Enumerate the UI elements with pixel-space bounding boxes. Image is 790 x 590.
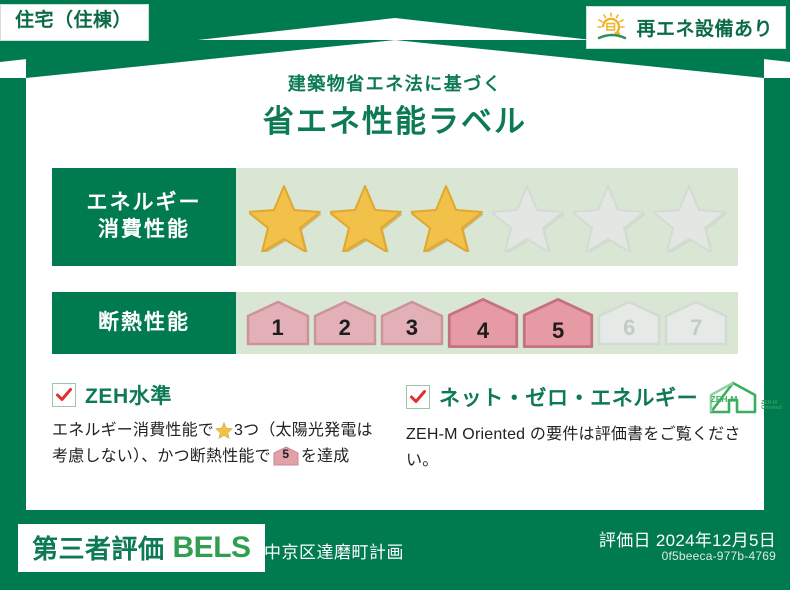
insulation-level-7: 7 (664, 299, 728, 347)
insulation-level-3: 3 (380, 299, 444, 347)
insulation-level-5: 5 (522, 296, 594, 350)
energy-label-line2: 消費性能 (98, 217, 190, 244)
renewable-equipment-tag: 再エネ設備あり (586, 6, 786, 49)
insulation-performance-row: 断熱性能 1234567 (52, 292, 738, 354)
title-block: 建築物省エネ法に基づく 省エネ性能ラベル (26, 74, 764, 142)
solar-sun-icon (595, 12, 629, 42)
energy-label-line1: エネルギー (87, 190, 202, 217)
zehm-logo-caption: ZEH-M Oriented (761, 401, 782, 415)
zehm-caption-line2: Oriented (761, 405, 782, 411)
label-subtitle: 建築物省エネ法に基づく (26, 74, 764, 96)
zeh-standard-checkbox[interactable] (52, 383, 76, 407)
insulation-level-6: 6 (597, 299, 661, 347)
insulation-level-number: 2 (313, 315, 377, 341)
bels-wordmark: BELS (173, 531, 251, 565)
energy-performance-label: エネルギー 消費性能 (52, 168, 236, 266)
star-empty-icon (492, 182, 564, 252)
check-icon (410, 390, 426, 404)
star-filled-icon (249, 182, 321, 252)
net-zero-energy-title: ネット・ゼロ・エネルギー (439, 382, 698, 412)
insulation-level-number: 5 (522, 318, 594, 344)
insulation-level-number: 4 (447, 318, 519, 344)
criteria-section: ZEH水準 エネルギー消費性能で 3つ（太陽光発電は考慮しない）、かつ断熱性能で… (52, 380, 742, 474)
insulation-level-2: 2 (313, 299, 377, 347)
project-name: 中京区達磨町計画 (264, 538, 404, 563)
zeh-standard-description: エネルギー消費性能で 3つ（太陽光発電は考慮しない）、かつ断熱性能で 5 を達成 (52, 418, 388, 470)
evaluation-date: 評価日 2024年12月5日 (599, 526, 776, 551)
star-filled-icon (411, 182, 483, 252)
insulation-level-number: 7 (664, 315, 728, 341)
zeh-m-logo-icon: ZEH-M (707, 380, 759, 414)
bels-third-party-label: 第三者評価 (32, 529, 165, 566)
zeh-desc-part3: を達成 (301, 448, 350, 465)
svg-text:ZEH-M: ZEH-M (711, 394, 738, 404)
insulation-label-text: 断熱性能 (98, 310, 190, 337)
insulation-level-scale: 1234567 (236, 292, 738, 354)
bels-certification-badge: 第三者評価 BELS (18, 524, 265, 572)
footer-bar: 第三者評価 BELS 中京区達磨町計画 評価日 2024年12月5日 0f5be… (0, 516, 790, 590)
insulation-level-number: 1 (246, 315, 310, 341)
star-rating (236, 168, 738, 266)
label-title: 省エネ性能ラベル (26, 102, 764, 142)
criterion-nze-header: ネット・ゼロ・エネルギー ZEH-M ZEH-M Oriented (406, 380, 742, 414)
criterion-zeh-header: ZEH水準 (52, 380, 388, 410)
insulation-level-1: 1 (246, 299, 310, 347)
star-filled-icon (330, 182, 402, 252)
dwelling-type-tag: 住宅（住棟） (0, 4, 149, 41)
zeh-standard-title: ZEH水準 (85, 380, 172, 410)
insulation-level-number: 3 (380, 315, 444, 341)
zehm-logo-wrap: ZEH-M ZEH-M Oriented (707, 380, 782, 414)
label-card: 建築物省エネ法に基づく 省エネ性能ラベル エネルギー 消費性能 断熱性能 123… (26, 40, 764, 510)
inline-star-icon (215, 422, 233, 439)
check-icon (56, 388, 72, 402)
criterion-zeh-standard: ZEH水準 エネルギー消費性能で 3つ（太陽光発電は考慮しない）、かつ断熱性能で… (52, 380, 388, 474)
criterion-net-zero-energy: ネット・ゼロ・エネルギー ZEH-M ZEH-M Oriented ZEH (406, 380, 742, 474)
star-empty-icon (573, 182, 645, 252)
bels-energy-label: 住宅（住棟） 再エネ設備あり (0, 0, 790, 590)
inline-house-badge: 5 (273, 446, 299, 466)
energy-performance-row: エネルギー 消費性能 (52, 168, 738, 266)
zeh-desc-part1: エネルギー消費性能で (52, 422, 214, 439)
evaluation-id: 0f5beeca-977b-4769 (662, 549, 776, 563)
renewable-equipment-label: 再エネ設備あり (636, 14, 773, 41)
net-zero-energy-checkbox[interactable] (406, 385, 430, 409)
insulation-performance-label: 断熱性能 (52, 292, 236, 354)
star-empty-icon (654, 182, 726, 252)
inline-house-number: 5 (273, 445, 299, 464)
insulation-level-number: 6 (597, 315, 661, 341)
insulation-level-4: 4 (447, 296, 519, 350)
net-zero-energy-description: ZEH-M Oriented の要件は評価書をご覧ください。 (406, 422, 742, 474)
dwelling-type-label: 住宅（住棟） (15, 11, 132, 32)
